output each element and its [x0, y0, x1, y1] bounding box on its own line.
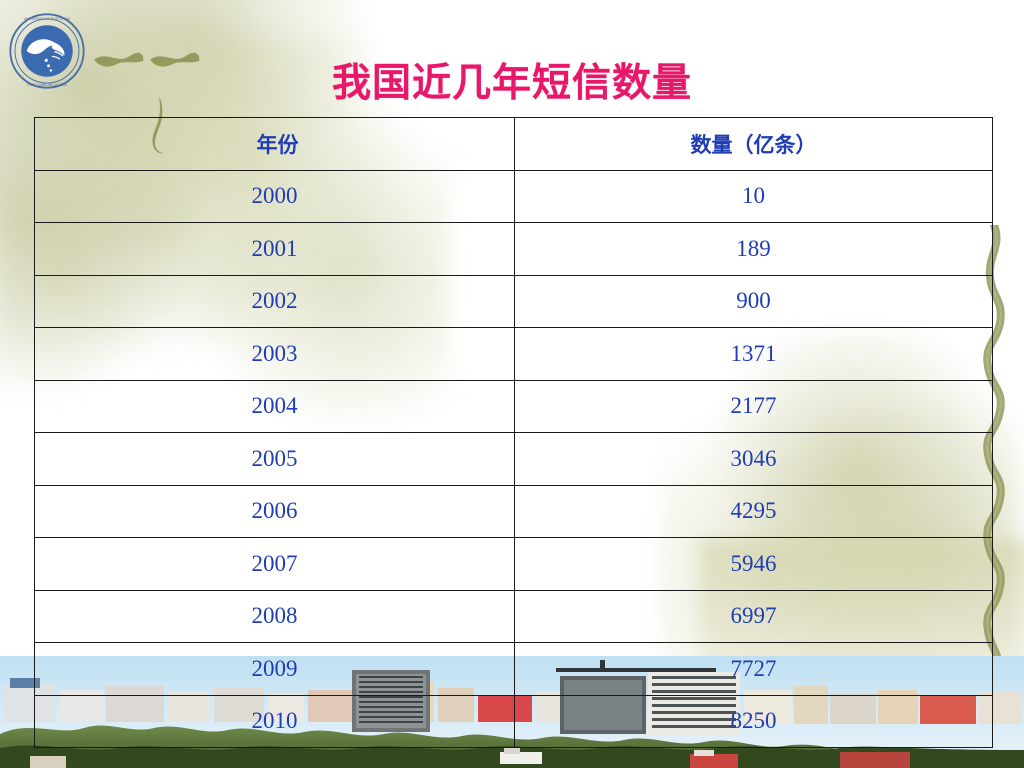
- cell-value: 6997: [515, 590, 993, 643]
- column-header-year-label: 年份: [251, 133, 299, 157]
- cell-year: 2008: [35, 590, 515, 643]
- cell-year: 2003: [35, 328, 515, 381]
- sms-volume-table: 年份 数量（亿条） 2000 10 2001 189 2002: [34, 117, 990, 735]
- table-row: 2009 7727: [35, 643, 993, 696]
- cell-year: 2001: [35, 223, 515, 276]
- page-title: 我国近几年短信数量: [0, 60, 1024, 108]
- table-row: 2002 900: [35, 275, 993, 328]
- table-row: 2010 8250: [35, 695, 993, 748]
- cell-year: 2007: [35, 538, 515, 591]
- cell-value: 5946: [515, 538, 993, 591]
- cell-value: 2177: [515, 380, 993, 433]
- table-row: 2001 189: [35, 223, 993, 276]
- table-row: 2008 6997: [35, 590, 993, 643]
- cell-year: 2005: [35, 433, 515, 486]
- cell-value: 4295: [515, 485, 993, 538]
- cell-year: 2002: [35, 275, 515, 328]
- cell-year: 2010: [35, 695, 515, 748]
- cell-year: 2006: [35, 485, 515, 538]
- cell-value: 8250: [515, 695, 993, 748]
- cell-year: 2000: [35, 170, 515, 223]
- table-row: 2005 3046: [35, 433, 993, 486]
- table-row: 2007 5946: [35, 538, 993, 591]
- table-header-row: 年份 数量（亿条）: [35, 118, 993, 171]
- cell-value: 189: [515, 223, 993, 276]
- cell-value: 10: [515, 170, 993, 223]
- table-row: 2006 4295: [35, 485, 993, 538]
- column-header-quantity: 数量（亿条）: [515, 118, 993, 171]
- svg-text:UNIVERSITY OF POSTS AND: UNIVERSITY OF POSTS AND: [24, 17, 71, 21]
- cell-value: 900: [515, 275, 993, 328]
- cell-year: 2004: [35, 380, 515, 433]
- table-row: 2000 10: [35, 170, 993, 223]
- cell-value: 3046: [515, 433, 993, 486]
- table-row: 2003 1371: [35, 328, 993, 381]
- cell-value: 1371: [515, 328, 993, 381]
- cell-value: 7727: [515, 643, 993, 696]
- column-header-year: 年份: [35, 118, 515, 171]
- slide-canvas: UNIVERSITY OF POSTS AND TELECOMMUNICATIO…: [0, 0, 1024, 768]
- table-row: 2004 2177: [35, 380, 993, 433]
- column-header-quantity-label: 数量（亿条）: [691, 133, 817, 157]
- cell-year: 2009: [35, 643, 515, 696]
